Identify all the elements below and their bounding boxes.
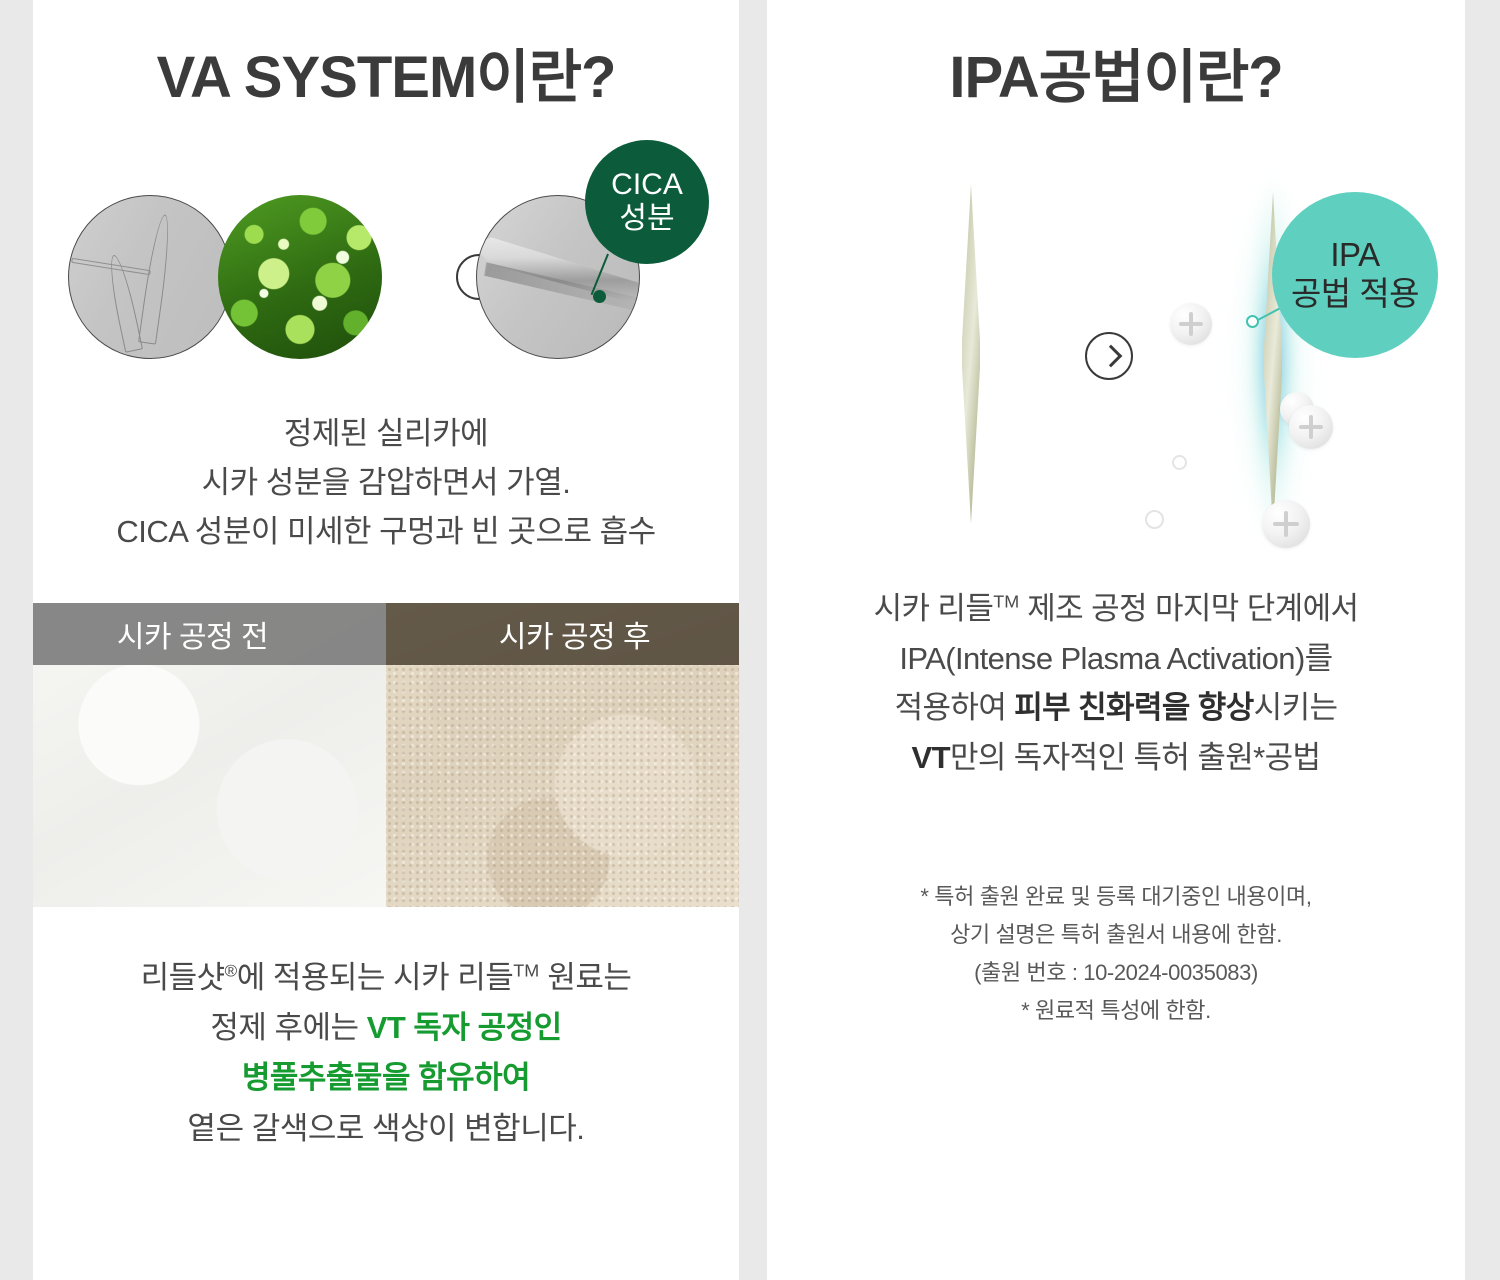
footnote-line: 상기 설명은 특허 출원서 내용에 한함.	[767, 916, 1465, 954]
comparison-before-image: 시카 공정 전	[33, 603, 386, 907]
ipa-leader-dot	[1246, 315, 1259, 328]
closing-text-fragment: 정제 후에는	[210, 1010, 366, 1045]
trademark-mark: TM	[993, 592, 1019, 612]
panel-va-system: VA SYSTEM이란? CICA	[33, 0, 739, 1280]
closing-line-3: 병풀추출물을 함유하여	[33, 1053, 739, 1103]
description-fragment: 시카 리들	[874, 591, 994, 626]
ipa-badge-line1: IPA	[1330, 236, 1379, 275]
closing-line-2: 정제 후에는 VT 독자 공정인	[33, 1003, 739, 1053]
plasma-ion-bubble	[1289, 405, 1333, 449]
closing-line-1: 리들샷®에 적용되는 시카 리들TM 원료는	[33, 953, 739, 1003]
plasma-micro-bubble	[1172, 455, 1187, 470]
description-line-4: VT만의 독자적인 특허 출원*공법	[767, 733, 1465, 783]
closing-text-fragment: 원료는	[539, 960, 631, 995]
brand-name: VT	[912, 740, 950, 775]
chevron-right-circle-icon	[1085, 332, 1133, 380]
needle-shape	[138, 213, 174, 344]
cica-leader-dot	[593, 290, 606, 303]
description-line-1: 시카 리들TM 제조 공정 마지막 단계에서	[767, 584, 1465, 634]
page-title-ipa-method: IPA공법이란?	[767, 30, 1465, 114]
description-line: CICA 성분이 미세한 구멍과 빈 곳으로 흡수	[33, 508, 739, 557]
silica-needle-microscope-image	[68, 195, 232, 359]
trademark-mark: TM	[513, 961, 539, 981]
description-fragment: 제조 공정 마지막 단계에서	[1019, 591, 1358, 626]
plasma-ion-bubble	[1262, 500, 1310, 548]
infographic-page: VA SYSTEM이란? CICA	[0, 0, 1500, 1280]
before-after-comparison: 시카 공정 전 시카 공정 후	[33, 603, 739, 907]
description-line: 시카 성분을 감압하면서 가열.	[33, 459, 739, 508]
ipa-badge-line2: 공법 적용	[1291, 275, 1419, 314]
comparison-before-label: 시카 공정 전	[33, 603, 386, 665]
closing-highlight: VT 독자 공정인	[367, 1010, 562, 1045]
cica-badge-line1: CICA	[611, 168, 683, 202]
description-line-3: 적용하여 피부 친화력을 향상시키는	[767, 683, 1465, 733]
cica-needle-plain	[962, 184, 980, 524]
description-line: 정제된 실리카에	[33, 410, 739, 459]
va-system-closing-text: 리들샷®에 적용되는 시카 리들TM 원료는 정제 후에는 VT 독자 공정인 …	[33, 953, 739, 1154]
cica-ingredient-badge: CICA 성분	[585, 140, 709, 264]
comparison-after-image: 시카 공정 후	[386, 603, 739, 907]
description-line-2: IPA(Intense Plasma Activation)를	[767, 634, 1465, 684]
plasma-micro-bubble	[1145, 510, 1164, 529]
footnote-line: * 원료적 특성에 한함.	[767, 992, 1465, 1030]
registered-mark: ®	[225, 962, 237, 981]
closing-text-fragment: 리들샷	[141, 960, 225, 995]
va-process-diagram: CICA 성분	[33, 132, 739, 382]
ipa-method-description: 시카 리들TM 제조 공정 마지막 단계에서 IPA(Intense Plasm…	[767, 584, 1465, 782]
cica-badge-line2: 성분	[619, 202, 674, 236]
centella-asiatica-leaves-image	[218, 195, 382, 359]
closing-text-fragment: 에 적용되는 시카 리들	[237, 960, 514, 995]
page-title-va-system: VA SYSTEM이란?	[33, 30, 739, 114]
description-fragment: 만의 독자적인 특허 출원*공법	[950, 740, 1321, 775]
description-fragment: 적용하여	[895, 690, 1015, 725]
description-bold-highlight: 피부 친화력을 향상	[1014, 690, 1253, 725]
comparison-after-label: 시카 공정 후	[386, 603, 739, 665]
va-system-description: 정제된 실리카에 시카 성분을 감압하면서 가열. CICA 성분이 미세한 구…	[33, 410, 739, 557]
ipa-method-footnote: * 특허 출원 완료 및 등록 대기중인 내용이며, 상기 설명은 특허 출원서…	[767, 878, 1465, 1029]
description-fragment: 시키는	[1254, 690, 1338, 725]
ipa-method-badge: IPA 공법 적용	[1272, 192, 1438, 358]
closing-line-4: 옅은 갈색으로 색상이 변합니다.	[33, 1104, 739, 1154]
plasma-ion-bubble	[1170, 303, 1212, 345]
footnote-line: * 특허 출원 완료 및 등록 대기중인 내용이며,	[767, 878, 1465, 916]
footnote-line: (출원 번호 : 10-2024-0035083)	[767, 954, 1465, 992]
